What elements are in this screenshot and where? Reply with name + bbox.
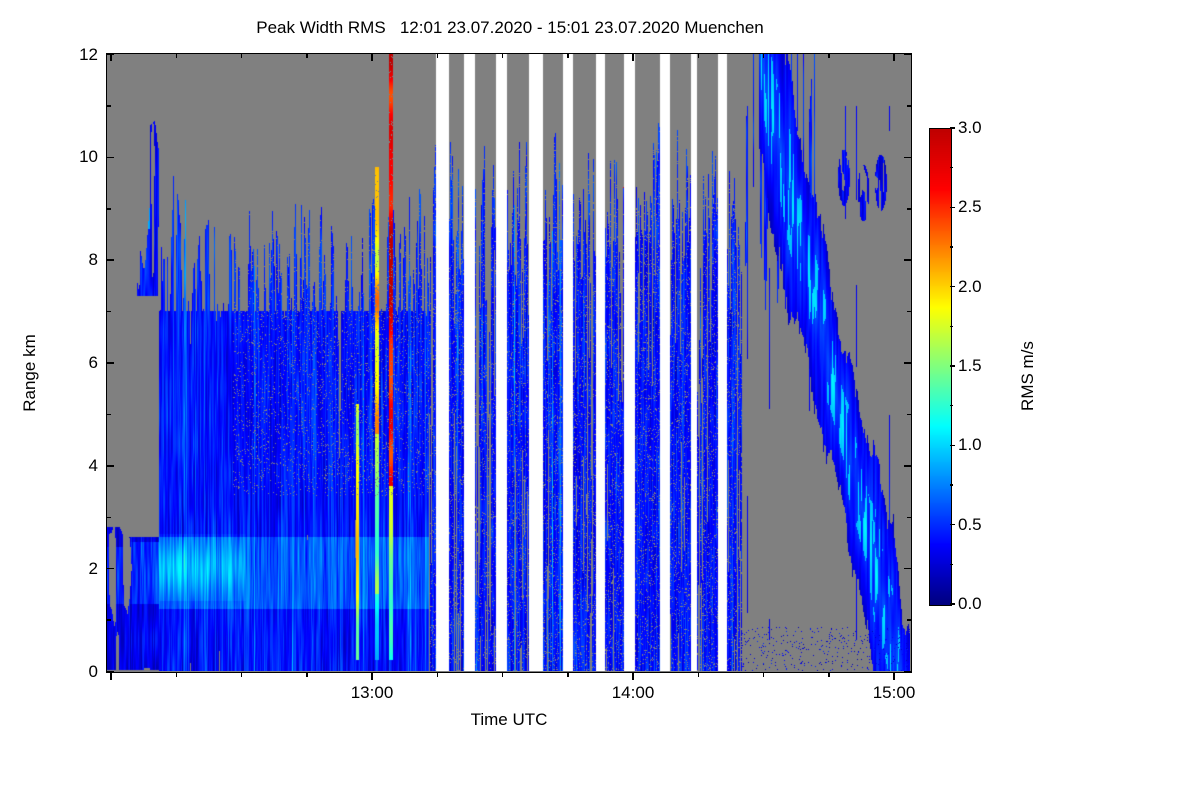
x-tick-minor-top [437,53,439,58]
x-tick-minor-top [567,53,569,58]
y-tick-minor-right [907,619,912,621]
x-tick-minor [241,672,243,677]
x-tick-minor-top [241,53,243,58]
colorbar-tick [950,524,955,525]
y-tick-major [106,157,114,159]
y-tick-minor [106,311,111,313]
y-tick-label: 10 [42,147,98,167]
y-tick-major-right [904,259,912,261]
colorbar[interactable] [929,128,950,604]
y-tick-minor-right [907,311,912,313]
x-tick-minor [828,672,830,677]
y-tick-label: 8 [42,250,98,270]
y-tick-minor-right [907,414,912,416]
x-tick-minor-top [306,53,308,58]
y-tick-minor [106,414,111,416]
heatmap-image [107,54,910,671]
y-tick-major [106,465,114,467]
colorbar-tick-minor [950,246,953,247]
colorbar-tick-minor [950,564,953,565]
y-axis-title: Range km [20,313,40,433]
x-tick-minor-top [763,53,765,58]
colorbar-tick-minor [950,405,953,406]
x-tick-major-top [371,53,373,61]
chart-title: Peak Width RMS 12:01 23.07.2020 - 15:01 … [0,18,1020,38]
x-tick-minor [437,672,439,677]
y-tick-major [106,671,114,673]
x-tick-minor [502,672,504,677]
y-tick-major-right [904,568,912,570]
y-tick-major [106,259,114,261]
y-tick-label: 2 [42,559,98,579]
colorbar-tick-minor [950,167,953,168]
colorbar-tick [950,286,955,287]
colorbar-gradient [929,128,952,606]
x-tick-label: 13:00 [351,683,394,703]
heatmap-plot-area[interactable] [106,53,912,673]
x-tick-minor [763,672,765,677]
y-tick-major [106,568,114,570]
y-tick-major [106,54,114,56]
colorbar-tick [950,207,955,208]
x-tick-minor-top [176,53,178,58]
x-tick-major-top [893,53,895,61]
colorbar-tick-label: 0.5 [958,515,982,535]
x-tick-minor [176,672,178,677]
x-tick-minor-top [828,53,830,58]
colorbar-tick-label: 2.0 [958,277,982,297]
y-tick-minor-right [907,208,912,210]
x-tick-minor [698,672,700,677]
y-tick-minor [106,619,111,621]
y-tick-major-right [904,157,912,159]
y-tick-label: 4 [42,456,98,476]
y-tick-major-right [904,362,912,364]
colorbar-tick [950,603,955,604]
colorbar-tick-label: 1.0 [958,435,982,455]
colorbar-tick-label: 1.5 [958,356,982,376]
x-tick-label: 15:00 [873,683,916,703]
y-tick-minor [106,208,111,210]
y-tick-label: 12 [42,45,98,65]
x-axis-title: Time UTC [106,710,912,730]
y-tick-major-right [904,465,912,467]
x-tick-label: 14:00 [612,683,655,703]
colorbar-title: RMS m/s [1018,296,1038,456]
colorbar-tick-label: 0.0 [958,594,982,614]
x-tick-minor-top [698,53,700,58]
x-tick-major [893,672,895,680]
y-tick-minor [106,517,111,519]
x-tick-major-top [632,53,634,61]
colorbar-tick [950,365,955,366]
y-tick-minor-right [907,105,912,107]
x-tick-minor [567,672,569,677]
colorbar-tick-minor [950,484,953,485]
y-tick-major-right [904,671,912,673]
x-tick-major [110,672,112,680]
colorbar-tick-label: 3.0 [958,118,982,138]
y-tick-major [106,362,114,364]
x-tick-minor [306,672,308,677]
x-tick-minor-top [502,53,504,58]
x-tick-major [371,672,373,680]
colorbar-tick [950,445,955,446]
colorbar-tick-minor [950,326,953,327]
y-tick-minor-right [907,517,912,519]
y-tick-minor [106,105,111,107]
y-tick-label: 0 [42,662,98,682]
x-tick-major [632,672,634,680]
y-tick-label: 6 [42,353,98,373]
colorbar-tick [950,127,955,128]
colorbar-tick-label: 2.5 [958,197,982,217]
figure-canvas: Peak Width RMS 12:01 23.07.2020 - 15:01 … [0,0,1200,800]
y-tick-major-right [904,54,912,56]
